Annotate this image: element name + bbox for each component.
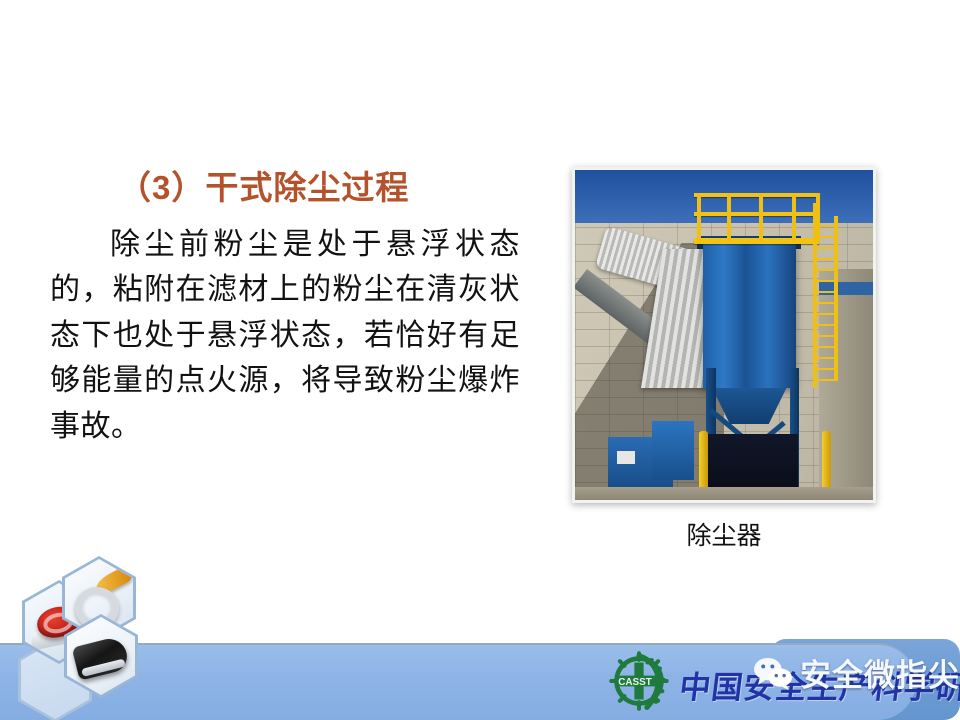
dust-collector-photo-frame bbox=[572, 167, 876, 503]
photo-yellow-railing bbox=[694, 190, 819, 243]
photo-control-box-label bbox=[617, 451, 635, 464]
photo-ladder-rungs bbox=[813, 216, 835, 381]
wechat-icon bbox=[752, 656, 794, 690]
wechat-watermark: 安全微指尖 bbox=[752, 650, 960, 695]
photo-caption: 除尘器 bbox=[572, 516, 876, 552]
hex-black-equipment-icon bbox=[72, 635, 131, 681]
watermark-text: 安全微指尖 bbox=[800, 650, 960, 695]
dust-collector-photo bbox=[575, 170, 873, 500]
casst-logo-text: CASST bbox=[618, 677, 652, 688]
photo-collector-body bbox=[703, 243, 795, 388]
text-content-block: （3）干式除尘过程 除尘前粉尘是处于悬浮状态的，粘附在滤材上的粉尘在清灰状态下也… bbox=[40, 168, 520, 450]
slide-canvas: （3）干式除尘过程 除尘前粉尘是处于悬浮状态的，粘附在滤材上的粉尘在清灰状态下也… bbox=[0, 0, 960, 720]
photo-collector-base bbox=[706, 434, 798, 493]
photo-bollard-left bbox=[699, 431, 708, 494]
photo-ground bbox=[575, 487, 873, 500]
photo-control-box-secondary bbox=[652, 421, 694, 480]
slide-body-text: 除尘前粉尘是处于悬浮状态的，粘附在滤材上的粉尘在清灰状态下也处于悬浮状态，若恰好… bbox=[40, 222, 520, 450]
casst-logo-icon: CASST bbox=[606, 648, 672, 714]
photo-bollard-right bbox=[822, 431, 831, 494]
slide-title: （3）干式除尘过程 bbox=[118, 168, 520, 208]
